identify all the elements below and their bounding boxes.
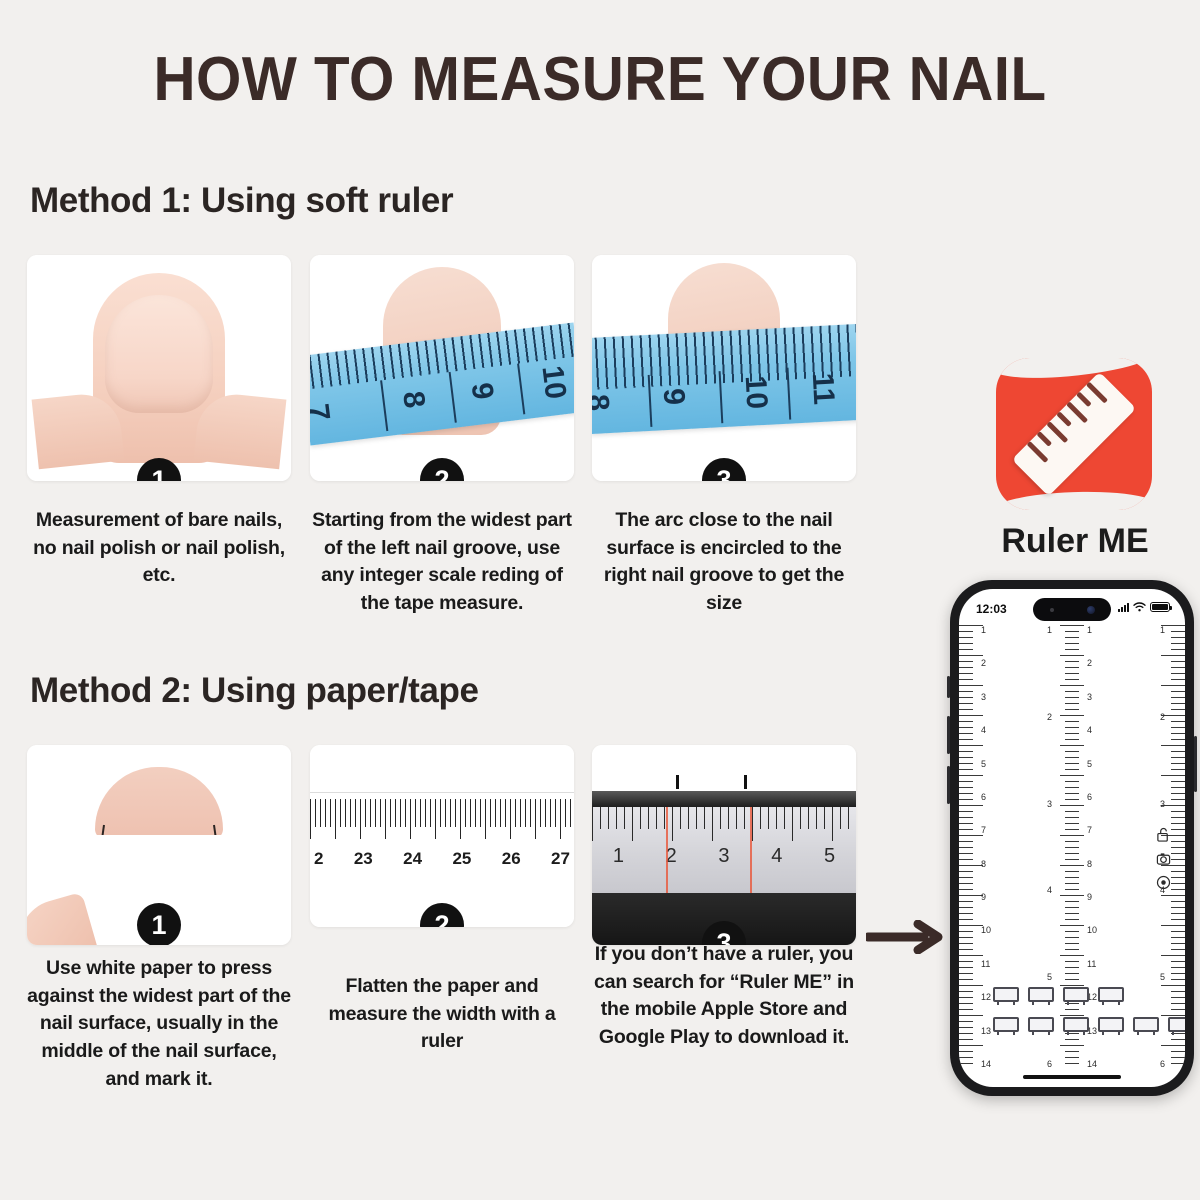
step-image-1-1: 1 (27, 255, 291, 481)
tape-number: 8 (592, 393, 615, 411)
measured-chip[interactable] (1098, 987, 1124, 1002)
ruler-number: 2 (314, 849, 323, 869)
page-title: HOW TO MEASURE YOUR NAIL (36, 44, 1164, 115)
ruler-major-ticks (959, 625, 983, 1069)
measured-chip[interactable] (1098, 1017, 1124, 1032)
app-name-label: Ruler ME (930, 522, 1200, 561)
ruler-number: 3 (981, 692, 991, 702)
power-button[interactable] (1194, 736, 1197, 792)
tape-number: 9 (656, 388, 691, 406)
front-camera-icon (1087, 606, 1095, 614)
ruler-numbers: 1 2 3 4 5 (592, 845, 856, 868)
cellular-signal-icon (1118, 603, 1129, 612)
ruler-number: 26 (502, 849, 521, 869)
ruler-number: 2 (1047, 712, 1052, 722)
measured-chip[interactable] (1133, 1017, 1159, 1032)
ruler-number: 6 (981, 792, 991, 802)
volume-up-button[interactable] (947, 716, 950, 754)
metal-ruler-photo: 1 2 3 4 5 (592, 745, 856, 945)
measured-chip[interactable] (1168, 1017, 1185, 1032)
lock-icon[interactable] (1156, 827, 1171, 842)
ruler-number: 5 (1160, 972, 1165, 982)
pen-mark-right (744, 775, 747, 789)
measured-chip[interactable] (1063, 1017, 1089, 1032)
wifi-icon (1133, 602, 1146, 612)
camera-icon[interactable] (1156, 851, 1171, 866)
left-ruler[interactable]: 1 2 3 4 5 6 7 8 9 10 11 12 13 14 (959, 625, 1017, 1069)
ruler-number: 7 (981, 825, 991, 835)
tape-number: 10 (737, 375, 773, 410)
ruler-number: 2 (981, 658, 991, 668)
step-image-2-3: 1 2 3 4 5 3 (592, 745, 856, 945)
ruler-number: 1 (981, 625, 991, 635)
step-caption: Starting from the widest part of the lef… (305, 507, 579, 618)
ruler-number: 5 (824, 845, 835, 868)
tape-measure: 7 8 9 10 (310, 323, 574, 446)
step-card-1-1: 1 Measurement of bare nails, no nail pol… (27, 255, 291, 481)
ruler-number: 27 (551, 849, 570, 869)
measured-chip-row-2 (993, 1017, 1185, 1032)
ruler-number: 5 (1047, 972, 1052, 982)
step-card-1-3: 8 9 10 11 3 The arc close to the nail su… (592, 255, 856, 481)
ruler-number: 3 (1047, 799, 1052, 809)
home-indicator[interactable] (1023, 1075, 1121, 1079)
right-arrow-icon (866, 920, 952, 954)
ruler-app-icon[interactable] (996, 358, 1152, 510)
ruler-number: 7 (1087, 825, 1097, 835)
ruler-number: 9 (1087, 892, 1097, 902)
ruler-number: 5 (981, 759, 991, 769)
step-caption: Use white paper to press against the wid… (22, 955, 296, 1093)
ruler-number: 1 (1087, 625, 1097, 635)
measured-chip-row-1 (993, 987, 1124, 1002)
tape-major-line (449, 372, 457, 422)
icon-wave-bottom (996, 488, 1152, 510)
step-image-2-2: 2 23 24 25 26 27 2 (310, 745, 574, 927)
ruler-major-ticks (1060, 625, 1084, 1069)
ruler-major-ticks (310, 799, 574, 839)
measured-chip[interactable] (1063, 987, 1089, 1002)
ruler-number: 3 (718, 845, 729, 868)
tape-number: 11 (804, 372, 840, 405)
measured-chip[interactable] (993, 987, 1019, 1002)
flattened-paper (310, 745, 574, 793)
pen-mark-left (676, 775, 679, 789)
ruler-number: 6 (1047, 1059, 1052, 1069)
device-edge (592, 791, 856, 807)
volume-down-button[interactable] (947, 766, 950, 804)
tape-major-line (380, 380, 388, 430)
step-caption: If you don’t have a ruler, you can searc… (587, 941, 861, 1052)
ruler-number: 9 (981, 892, 991, 902)
ruler-number: 1 (1160, 625, 1165, 635)
phone-mockup: 12:03 1 2 3 (950, 580, 1194, 1096)
phone-screen: 12:03 1 2 3 (959, 589, 1185, 1087)
ruler-major-ticks (592, 807, 856, 841)
step-card-1-2: 7 8 9 10 2 Starting from the widest part… (310, 255, 574, 481)
tape-number: 9 (464, 380, 500, 401)
ruler-number: 12 (981, 992, 991, 1002)
metal-ruler: 1 2 3 4 5 (592, 807, 856, 893)
ruler-number: 14 (1087, 1059, 1097, 1069)
ruler-number: 5 (1087, 759, 1097, 769)
ruler-number: 14 (981, 1059, 991, 1069)
step-caption: Measurement of bare nails, no nail polis… (22, 507, 296, 590)
ruler-number: 2 (1087, 658, 1097, 668)
ruler-number: 1 (613, 845, 624, 868)
tape-measure-photo-2: 8 9 10 11 (592, 255, 856, 481)
tape-number: 7 (310, 402, 336, 423)
record-icon[interactable] (1156, 875, 1171, 890)
ruler-number: 10 (1087, 925, 1097, 935)
infographic-page: HOW TO MEASURE YOUR NAIL Method 1: Using… (0, 0, 1200, 1200)
step-card-2-1: 1 Use white paper to press against the w… (27, 745, 291, 945)
ruler-number: 11 (981, 959, 991, 969)
center-ruler-right-numbers: 1 2 3 4 5 6 7 8 9 10 11 12 13 14 (1087, 625, 1097, 1069)
ruler-number: 24 (403, 849, 422, 869)
alignment-line-left (666, 807, 668, 893)
ruler-number: 2 (1160, 712, 1165, 722)
tape-number: 8 (395, 389, 431, 410)
ruler-number: 3 (1087, 692, 1097, 702)
silent-switch[interactable] (947, 676, 950, 698)
ruler-number: 23 (354, 849, 373, 869)
tape-measure-photo-1: 7 8 9 10 (310, 255, 574, 481)
status-bar-indicators (1118, 602, 1170, 612)
battery-icon (1150, 602, 1170, 612)
paper-and-ruler-photo: 2 23 24 25 26 27 (310, 745, 574, 927)
measured-chip[interactable] (993, 1017, 1019, 1032)
left-ruler-numbers: 1 2 3 4 5 6 7 8 9 10 11 12 13 14 (981, 625, 991, 1069)
tape-major-line (517, 364, 525, 414)
paper-backdrop (592, 745, 856, 791)
measured-chip[interactable] (1028, 1017, 1054, 1032)
measured-chip[interactable] (1028, 987, 1054, 1002)
icon-wave-top (996, 358, 1152, 382)
ruler-number: 4 (1047, 885, 1052, 895)
ruler-number: 6 (1087, 792, 1097, 802)
step-card-2-2: 2 23 24 25 26 27 2 Flatten the paper and… (310, 745, 574, 927)
step-image-1-3: 8 9 10 11 3 (592, 255, 856, 481)
right-ruler-numbers: 1 2 3 4 5 6 (1160, 625, 1165, 1069)
method-2-heading: Method 2: Using paper/tape (30, 671, 479, 711)
ruler-number: 8 (1087, 859, 1097, 869)
bare-nail-photo (27, 255, 291, 481)
ruler-glyph (1012, 372, 1136, 496)
ruler-number: 8 (981, 859, 991, 869)
ruler-number: 11 (1087, 959, 1097, 969)
step-badge: 1 (137, 903, 181, 945)
right-ruler[interactable]: 1 2 3 4 5 6 (1127, 625, 1185, 1069)
step-image-2-1: 1 (27, 745, 291, 945)
tape-number: 10 (534, 363, 572, 400)
alignment-line-right (750, 807, 752, 893)
ruler-number: 10 (981, 925, 991, 935)
nail-shape (105, 295, 213, 413)
ruler-number: 13 (981, 1026, 991, 1036)
ruler-numbers: 2 23 24 25 26 27 (310, 849, 574, 869)
step-caption: Flatten the paper and measure the width … (305, 973, 579, 1056)
ruler-number: 4 (771, 845, 782, 868)
status-bar-time: 12:03 (976, 602, 1007, 616)
step-card-2-3: 1 2 3 4 5 3 If you don’t have a ruler, y… (592, 745, 856, 945)
sensor-dot (1050, 608, 1054, 612)
ruler-number: 1 (1047, 625, 1052, 635)
dynamic-island (1033, 598, 1111, 621)
tape-measure: 8 9 10 11 (592, 324, 856, 434)
ruler-number: 25 (452, 849, 471, 869)
method-1-heading: Method 1: Using soft ruler (30, 181, 453, 221)
nail-shape (95, 767, 223, 839)
center-ruler[interactable]: 1 2 3 4 5 6 1 2 3 4 5 6 7 8 9 10 (1045, 625, 1099, 1069)
ruler-number: 4 (1087, 725, 1097, 735)
ruler-number: 6 (1160, 1059, 1165, 1069)
ruler-number: 4 (981, 725, 991, 735)
ruler-number: 3 (1160, 799, 1165, 809)
step-caption: The arc close to the nail surface is enc… (587, 507, 861, 618)
step-image-1-2: 7 8 9 10 2 (310, 255, 574, 481)
